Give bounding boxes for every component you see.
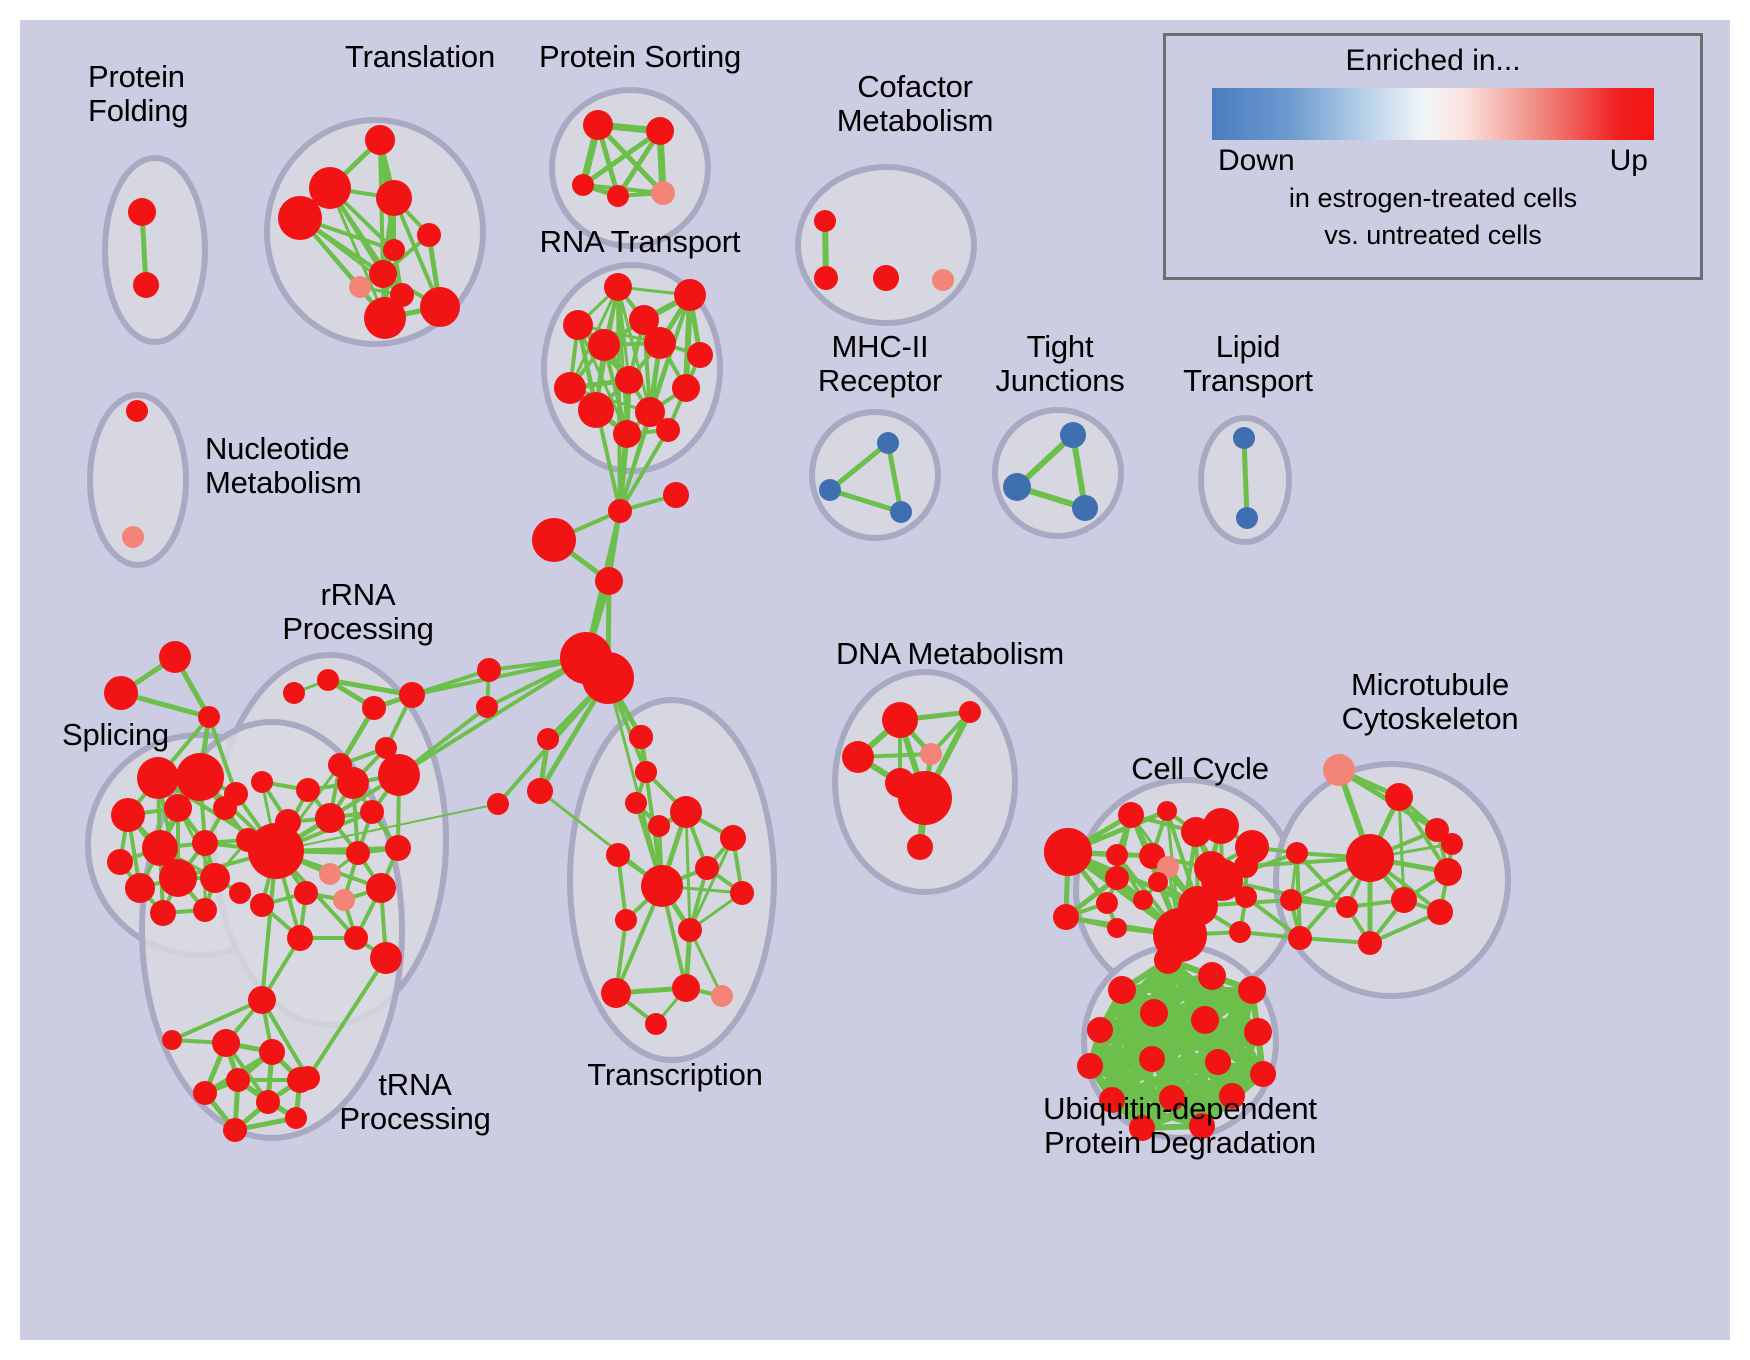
legend-low-label: Down <box>1218 144 1295 178</box>
cluster-hull-protein-sorting <box>552 90 708 246</box>
node-rna-transport-2[interactable] <box>563 310 593 340</box>
node-rrna-processing-8[interactable] <box>337 767 369 799</box>
node-rna-transport-4[interactable] <box>588 329 620 361</box>
node-mhc-ii-receptor-1[interactable] <box>819 479 841 501</box>
node-rrna-processing-15[interactable] <box>346 841 370 865</box>
node-cell-cycle-3[interactable] <box>1157 801 1177 821</box>
node-microtubule-cytoskeleton-7[interactable] <box>1391 887 1417 913</box>
node-trna-processing-8[interactable] <box>285 1107 307 1129</box>
node-splicing-10[interactable] <box>107 849 133 875</box>
node-rrna-processing-17[interactable] <box>294 881 318 905</box>
node-microtubule-cytoskeleton-1[interactable] <box>1385 783 1413 811</box>
cluster-label-line: MHC-II <box>790 330 970 364</box>
cluster-label-protein-folding: ProteinFolding <box>88 60 298 128</box>
node-rna-transport-5[interactable] <box>644 327 676 359</box>
node-lipid-transport-0[interactable] <box>1233 427 1255 449</box>
node-ubiquitin-protein-degradation-3[interactable] <box>1238 976 1266 1004</box>
node-translation-3[interactable] <box>278 196 322 240</box>
node-rrna-processing-23[interactable] <box>370 942 402 974</box>
node-ubiquitin-protein-degradation-2[interactable] <box>1198 962 1226 990</box>
cluster-label-trna-processing: tRNAProcessing <box>305 1068 525 1136</box>
node-protein-sorting-2[interactable] <box>572 174 594 196</box>
node-rrna-processing-14[interactable] <box>319 863 341 885</box>
cluster-label-line: rRNA <box>248 578 468 612</box>
cluster-label-line: Microtubule <box>1300 668 1560 702</box>
node-microtubule-cytoskeleton-3[interactable] <box>1346 834 1394 882</box>
node-cell-cycle-2[interactable] <box>1118 802 1144 828</box>
node-transcription-5[interactable] <box>720 825 746 851</box>
node-nucleotide-metabolism-0[interactable] <box>126 400 148 422</box>
node-cofactor-metabolism-1[interactable] <box>814 266 838 290</box>
node-splicing-6[interactable] <box>164 794 192 822</box>
node-splicing-0[interactable] <box>159 641 191 673</box>
node-transcription-12[interactable] <box>601 978 631 1008</box>
node-trna-processing-2[interactable] <box>259 1039 285 1065</box>
cluster-label-dna-metabolism: DNA Metabolism <box>820 637 1080 671</box>
node-trna-processing-6[interactable] <box>256 1090 280 1114</box>
node-microtubule-cytoskeleton-10[interactable] <box>1358 931 1382 955</box>
cluster-label-rna-transport: RNA Transport <box>500 225 780 259</box>
node-rna-transport-7[interactable] <box>554 372 586 404</box>
node-transcription-11[interactable] <box>678 918 702 942</box>
node-nucleotide-metabolism-1[interactable] <box>122 526 144 548</box>
node-ubiquitin-protein-degradation-1[interactable] <box>1108 976 1136 1004</box>
bridge-node-b11[interactable] <box>629 725 653 749</box>
node-dna-metabolism-2[interactable] <box>842 741 874 773</box>
legend-endpoint-labels: Down Up <box>1166 144 1700 178</box>
node-translation-7[interactable] <box>349 276 371 298</box>
cluster-label-splicing: Splicing <box>62 718 242 752</box>
node-microtubule-cytoskeleton-5[interactable] <box>1280 889 1302 911</box>
node-microtubule-cytoskeleton-12[interactable] <box>1441 833 1463 855</box>
node-splicing-16[interactable] <box>193 898 217 922</box>
node-dna-metabolism-6[interactable] <box>907 834 933 860</box>
node-rrna-processing-0[interactable] <box>317 669 339 691</box>
node-splicing-5[interactable] <box>111 798 145 832</box>
cluster-label-rrna-processing: rRNAProcessing <box>248 578 468 646</box>
legend-title: Enriched in... <box>1166 44 1700 78</box>
node-translation-5[interactable] <box>383 239 405 261</box>
cluster-label-line: Protein Sorting <box>500 40 780 74</box>
node-rna-transport-1[interactable] <box>674 279 706 311</box>
bridge-node-b13[interactable] <box>224 782 248 806</box>
legend-subtitle-line-2: vs. untreated cells <box>1166 219 1700 252</box>
node-rrna-processing-24[interactable] <box>248 986 276 1014</box>
cluster-label-mhc-ii-receptor: MHC-IIReceptor <box>790 330 970 398</box>
node-rrna-processing-22[interactable] <box>344 926 368 950</box>
cluster-label-nucleotide-metabolism: NucleotideMetabolism <box>205 432 455 500</box>
node-trna-processing-0[interactable] <box>162 1030 182 1050</box>
node-translation-0[interactable] <box>365 125 395 155</box>
node-protein-sorting-3[interactable] <box>607 185 629 207</box>
cluster-label-line: Transcription <box>560 1058 790 1092</box>
node-trna-processing-7[interactable] <box>223 1118 247 1142</box>
legend-color-gradient-bar <box>1212 88 1654 140</box>
bridge-node-b1[interactable] <box>663 482 689 508</box>
node-transcription-13[interactable] <box>672 974 700 1002</box>
node-ubiquitin-protein-degradation-7[interactable] <box>1244 1018 1272 1046</box>
cluster-label-line: Cofactor <box>790 70 1040 104</box>
node-rrna-processing-9[interactable] <box>378 754 420 796</box>
cluster-label-line: tRNA <box>305 1068 525 1102</box>
node-ubiquitin-protein-degradation-4[interactable] <box>1087 1017 1113 1043</box>
node-cofactor-metabolism-2[interactable] <box>873 265 899 291</box>
bridge-node-b6[interactable] <box>537 728 559 750</box>
node-rna-transport-0[interactable] <box>604 273 632 301</box>
node-transcription-7[interactable] <box>641 865 683 907</box>
cluster-label-protein-sorting: Protein Sorting <box>500 40 780 74</box>
node-splicing-14[interactable] <box>200 863 230 893</box>
bridge-node-b7[interactable] <box>527 778 553 804</box>
node-transcription-2[interactable] <box>625 792 647 814</box>
node-translation-4[interactable] <box>417 223 441 247</box>
node-splicing-9[interactable] <box>192 830 218 856</box>
node-dna-metabolism-1[interactable] <box>882 702 918 738</box>
node-transcription-6[interactable] <box>606 843 630 867</box>
cluster-label-line: Receptor <box>790 364 970 398</box>
node-rrna-processing-13[interactable] <box>248 823 304 879</box>
node-cell-cycle-15[interactable] <box>1096 892 1118 914</box>
node-rrna-processing-1[interactable] <box>362 696 386 720</box>
node-translation-2[interactable] <box>376 180 412 216</box>
node-splicing-17[interactable] <box>229 882 251 904</box>
node-rrna-processing-6[interactable] <box>251 771 273 793</box>
node-transcription-15[interactable] <box>645 1013 667 1035</box>
node-trna-processing-1[interactable] <box>212 1029 240 1057</box>
node-protein-folding-1[interactable] <box>133 272 159 298</box>
node-rrna-processing-20[interactable] <box>250 893 274 917</box>
node-cell-cycle-5[interactable] <box>1203 808 1239 844</box>
node-splicing-3[interactable] <box>137 757 179 799</box>
node-tight-junctions-1[interactable] <box>1003 473 1031 501</box>
node-microtubule-cytoskeleton-6[interactable] <box>1336 896 1358 918</box>
cluster-label-line: RNA Transport <box>500 225 780 259</box>
cluster-label-line: Protein Degradation <box>1000 1126 1360 1160</box>
enrichment-map-figure: ProteinFoldingTranslationProtein Sorting… <box>0 0 1750 1360</box>
node-ubiquitin-protein-degradation-8[interactable] <box>1077 1053 1103 1079</box>
node-trna-processing-5[interactable] <box>193 1081 217 1105</box>
node-rrna-processing-11[interactable] <box>315 803 345 833</box>
node-cell-cycle-21[interactable] <box>1229 921 1251 943</box>
cluster-label-line: Junctions <box>975 364 1145 398</box>
cluster-label-line: Nucleotide <box>205 432 455 466</box>
node-dna-metabolism-4[interactable] <box>959 701 981 723</box>
node-rrna-processing-16[interactable] <box>385 835 411 861</box>
node-cell-cycle-13[interactable] <box>1148 872 1168 892</box>
node-mhc-ii-receptor-0[interactable] <box>877 432 899 454</box>
node-splicing-12[interactable] <box>159 859 197 897</box>
edges-lipid-transport <box>1244 438 1247 518</box>
node-cell-cycle-1[interactable] <box>1053 904 1079 930</box>
node-ubiquitin-protein-degradation-6[interactable] <box>1191 1006 1219 1034</box>
edge <box>1244 438 1247 518</box>
cluster-label-line: DNA Metabolism <box>820 637 1080 671</box>
node-transcription-14[interactable] <box>711 985 733 1007</box>
node-tight-junctions-0[interactable] <box>1060 422 1086 448</box>
cluster-label-microtubule-cytoskeleton: MicrotubuleCytoskeleton <box>1300 668 1560 736</box>
node-protein-sorting-1[interactable] <box>646 117 674 145</box>
cluster-label-line: Transport <box>1163 364 1333 398</box>
cluster-label-line: Protein <box>88 60 298 94</box>
legend-subtitle-line-1: in estrogen-treated cells <box>1166 182 1700 215</box>
node-rrna-processing-18[interactable] <box>333 889 355 911</box>
node-microtubule-cytoskeleton-9[interactable] <box>1288 926 1312 950</box>
node-rrna-processing-12[interactable] <box>360 800 384 824</box>
node-rrna-processing-3[interactable] <box>283 682 305 704</box>
bridge-node-b0[interactable] <box>608 499 632 523</box>
node-transcription-8[interactable] <box>695 856 719 880</box>
node-splicing-15[interactable] <box>150 900 176 926</box>
cluster-label-line: Lipid <box>1163 330 1333 364</box>
node-microtubule-cytoskeleton-8[interactable] <box>1434 858 1462 886</box>
cluster-label-line: Metabolism <box>205 466 455 500</box>
cluster-label-line: Metabolism <box>790 104 1040 138</box>
node-rna-transport-13[interactable] <box>656 418 680 442</box>
node-splicing-1[interactable] <box>104 676 138 710</box>
node-transcription-9[interactable] <box>730 881 754 905</box>
node-splicing-13[interactable] <box>125 873 155 903</box>
bridge-node-b3[interactable] <box>532 518 576 562</box>
node-transcription-4[interactable] <box>670 796 702 828</box>
bridge-node-b5[interactable] <box>582 652 634 704</box>
node-cell-cycle-7[interactable] <box>1106 844 1128 866</box>
cluster-label-line: Ubiquitin-dependent <box>1000 1092 1360 1126</box>
node-rrna-processing-19[interactable] <box>366 873 396 903</box>
node-microtubule-cytoskeleton-11[interactable] <box>1427 899 1453 925</box>
node-ubiquitin-protein-degradation-5[interactable] <box>1140 999 1168 1027</box>
node-cell-cycle-16[interactable] <box>1133 890 1153 910</box>
node-rna-transport-8[interactable] <box>615 366 643 394</box>
node-rna-transport-6[interactable] <box>687 342 713 368</box>
node-rna-transport-9[interactable] <box>672 374 700 402</box>
node-rrna-processing-7[interactable] <box>296 778 320 802</box>
node-cell-cycle-12[interactable] <box>1105 866 1129 890</box>
cluster-hull-tight-junctions <box>995 410 1121 536</box>
bridge-node-b12[interactable] <box>635 761 657 783</box>
bridge-node-b10[interactable] <box>476 696 498 718</box>
node-lipid-transport-1[interactable] <box>1236 507 1258 529</box>
node-cofactor-metabolism-3[interactable] <box>932 269 954 291</box>
node-ubiquitin-protein-degradation-10[interactable] <box>1205 1049 1231 1075</box>
node-microtubule-cytoskeleton-0[interactable] <box>1323 754 1355 786</box>
node-cell-cycle-18[interactable] <box>1235 886 1257 908</box>
cluster-label-line: Folding <box>88 94 298 128</box>
node-transcription-10[interactable] <box>615 909 637 931</box>
cluster-label-cell-cycle: Cell Cycle <box>1095 752 1305 786</box>
node-mhc-ii-receptor-2[interactable] <box>890 501 912 523</box>
node-ubiquitin-protein-degradation-0[interactable] <box>1154 946 1182 974</box>
cluster-label-tight-junctions: TightJunctions <box>975 330 1145 398</box>
cluster-label-line: Processing <box>248 612 468 646</box>
cluster-hull-mhc-ii-receptor <box>812 412 938 538</box>
bridge-node-b9[interactable] <box>487 793 509 815</box>
node-dna-metabolism-5[interactable] <box>898 771 952 825</box>
cluster-hull-protein-folding <box>105 158 205 342</box>
node-ubiquitin-protein-degradation-9[interactable] <box>1139 1046 1165 1072</box>
cluster-label-cofactor-metabolism: CofactorMetabolism <box>790 70 1040 138</box>
legend-high-label: Up <box>1610 144 1648 178</box>
node-rna-transport-12[interactable] <box>613 420 641 448</box>
node-rrna-processing-2[interactable] <box>399 682 425 708</box>
cluster-label-line: Processing <box>305 1102 525 1136</box>
node-transcription-3[interactable] <box>648 815 670 837</box>
node-protein-sorting-4[interactable] <box>651 181 675 205</box>
cluster-label-line: Cytoskeleton <box>1300 702 1560 736</box>
cluster-label-transcription: Transcription <box>560 1058 790 1092</box>
node-translation-6[interactable] <box>369 260 397 288</box>
node-protein-folding-0[interactable] <box>128 198 156 226</box>
node-tight-junctions-2[interactable] <box>1072 495 1098 521</box>
node-protein-sorting-0[interactable] <box>583 110 613 140</box>
bridge-node-b2[interactable] <box>595 567 623 595</box>
cluster-label-line: Tight <box>975 330 1145 364</box>
cluster-label-line: Cell Cycle <box>1095 752 1305 786</box>
cluster-label-lipid-transport: LipidTransport <box>1163 330 1333 398</box>
node-microtubule-cytoskeleton-2[interactable] <box>1286 842 1308 864</box>
node-dna-metabolism-3[interactable] <box>920 743 942 765</box>
node-ubiquitin-protein-degradation-11[interactable] <box>1250 1061 1276 1087</box>
legend-box: Enriched in... Down Up in estrogen-treat… <box>1163 33 1703 280</box>
node-translation-10[interactable] <box>364 297 406 339</box>
node-cofactor-metabolism-0[interactable] <box>814 210 836 232</box>
cluster-label-line: Splicing <box>62 718 242 752</box>
bridge-node-b8[interactable] <box>477 658 501 682</box>
bridge-node-b14[interactable] <box>1044 828 1092 876</box>
node-translation-9[interactable] <box>420 287 460 327</box>
cluster-label-ubiquitin-protein-degradation: Ubiquitin-dependentProtein Degradation <box>1000 1092 1360 1160</box>
node-rna-transport-10[interactable] <box>578 392 614 428</box>
node-cell-cycle-19[interactable] <box>1107 918 1127 938</box>
node-trna-processing-4[interactable] <box>226 1068 250 1092</box>
node-rrna-processing-21[interactable] <box>287 925 313 951</box>
node-splicing-4[interactable] <box>176 753 224 801</box>
